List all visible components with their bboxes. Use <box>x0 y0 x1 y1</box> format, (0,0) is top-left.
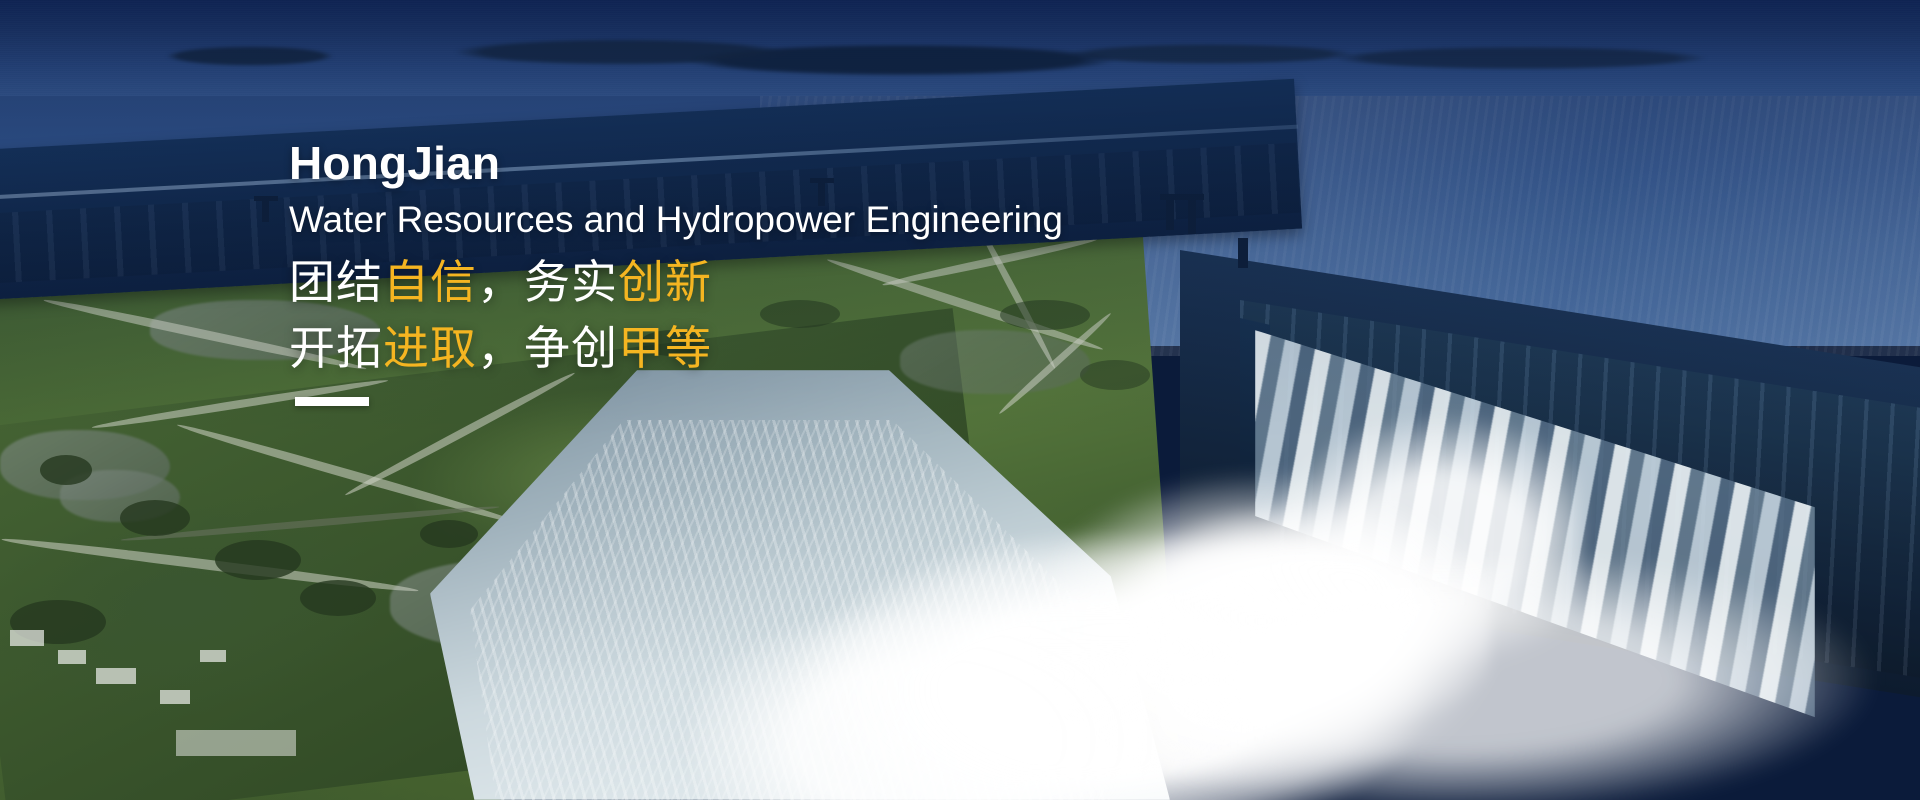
slogan2-part1: 开拓 <box>289 322 383 374</box>
building <box>96 668 136 684</box>
building <box>160 690 190 704</box>
far-shoreline <box>0 34 1920 76</box>
gantry-tower <box>1238 238 1248 268</box>
building <box>176 730 296 756</box>
brand-tagline: Water Resources and Hydropower Engineeri… <box>289 199 1189 240</box>
slogan1-highlight1: 自信 <box>383 256 477 308</box>
slogan2-highlight1: 进取 <box>383 322 477 374</box>
building <box>58 650 86 664</box>
hero-banner: HongJian Water Resources and Hydropower … <box>0 0 1920 800</box>
slogan1-part1: 团结 <box>289 256 383 308</box>
slogan1-highlight2: 创新 <box>618 256 712 308</box>
tree-cluster <box>300 580 376 616</box>
tree-cluster <box>40 455 92 485</box>
tree-cluster <box>120 500 190 536</box>
tree-cluster <box>215 540 301 580</box>
slogan-line-2: 开拓进取，争创甲等 <box>289 316 1189 381</box>
hero-copy-block: HongJian Water Resources and Hydropower … <box>289 140 1189 406</box>
slogan2-highlight2: 甲等 <box>618 322 712 374</box>
slogan1-part3: ，务实 <box>477 256 618 308</box>
gantry-tower-arm <box>254 196 278 201</box>
spray-mist <box>1150 560 1920 800</box>
slogan-line-1: 团结自信，务实创新 <box>289 250 1189 315</box>
slogan2-part3: ，争创 <box>477 322 618 374</box>
gantry-tower <box>1188 200 1196 234</box>
building <box>10 630 44 646</box>
building <box>200 650 226 662</box>
brand-title: HongJian <box>289 140 1189 187</box>
tree-cluster <box>420 520 478 548</box>
accent-underline-bar <box>295 397 369 406</box>
